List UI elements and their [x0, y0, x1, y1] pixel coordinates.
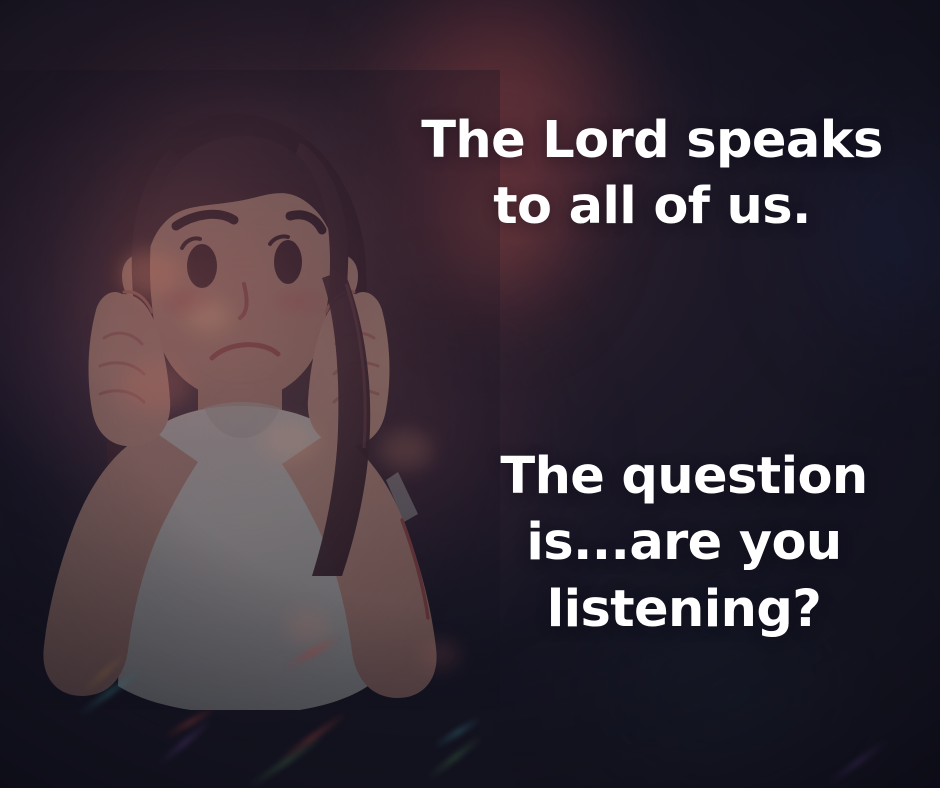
quote-top-line-2: to all of us.	[392, 174, 912, 240]
bokeh-spark	[260, 420, 318, 462]
bokeh-spark	[380, 430, 432, 470]
quote-bottom-block: The question is...are you listening?	[430, 444, 938, 643]
bokeh-spark	[186, 300, 232, 334]
quote-top-line-1: The Lord speaks	[392, 108, 912, 174]
bokeh-spark	[120, 250, 180, 296]
eye-left	[187, 244, 217, 288]
quote-bottom-line-1: The question	[430, 444, 938, 510]
quote-bottom-line-3: listening?	[430, 577, 938, 643]
bokeh-spark	[286, 610, 330, 644]
eye-right	[274, 240, 302, 284]
quote-top-block: The Lord speaks to all of us.	[392, 108, 912, 241]
bokeh-spark	[420, 640, 460, 670]
bokeh-spark	[120, 360, 190, 412]
quote-bottom-line-2: is...are you	[430, 510, 938, 576]
quote-graphic-canvas: The Lord speaks to all of us. The questi…	[0, 0, 940, 788]
blush-right	[268, 284, 328, 320]
